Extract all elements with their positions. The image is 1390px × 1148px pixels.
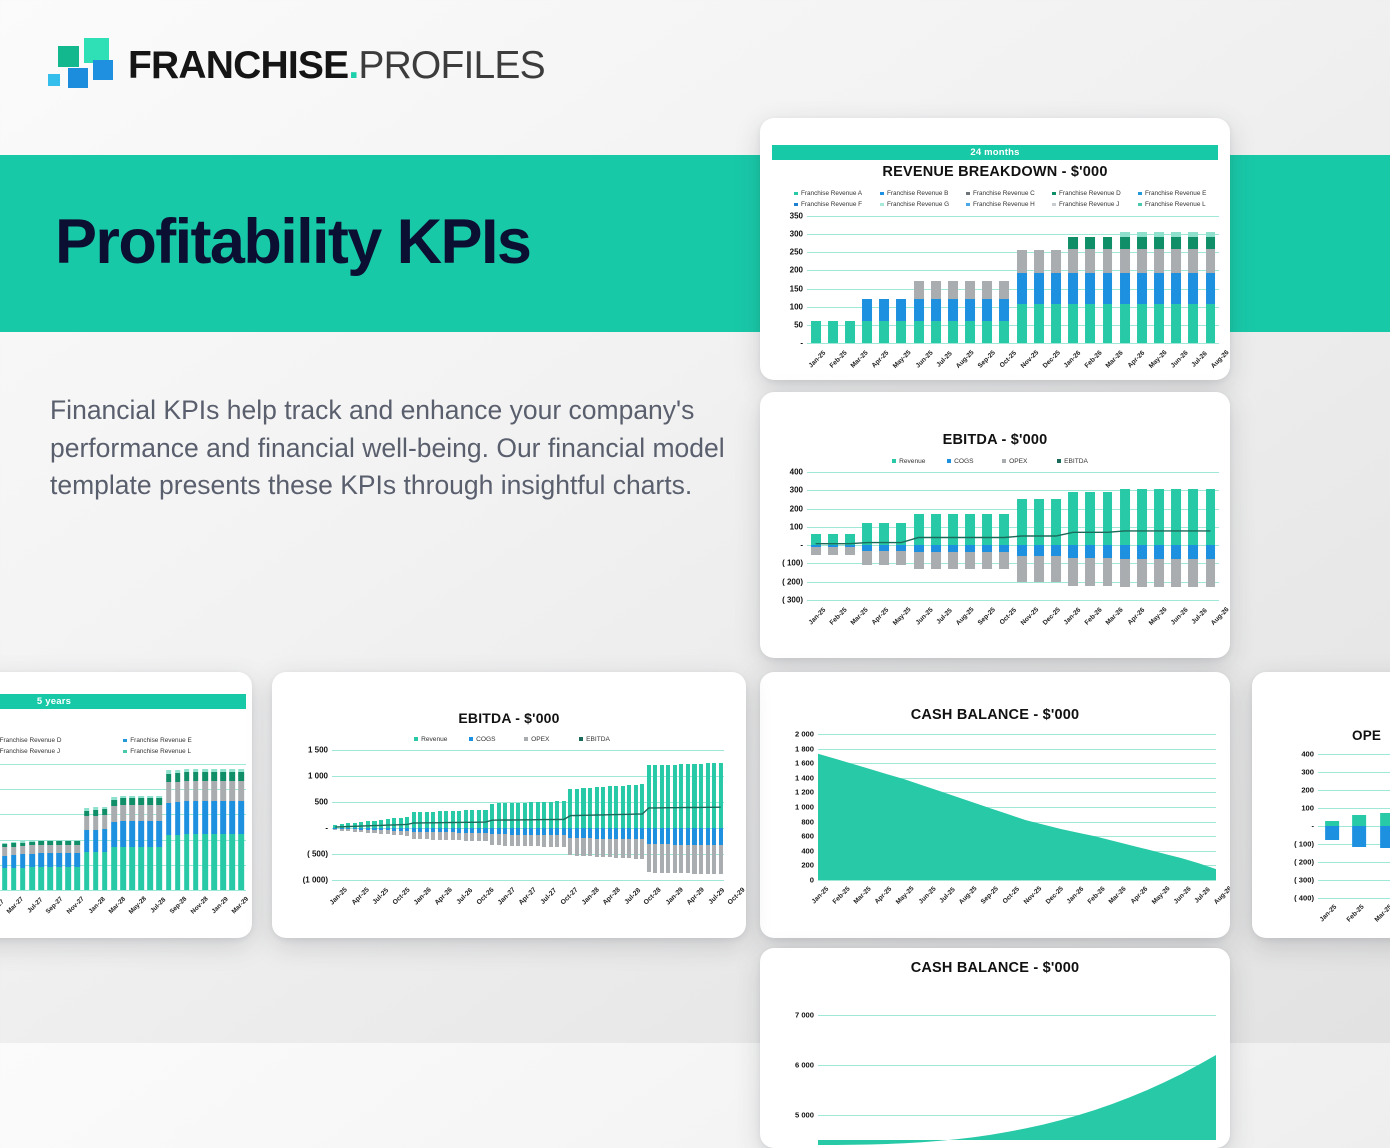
bar-column	[1065, 216, 1082, 343]
bar-column	[27, 764, 36, 890]
legend-item: Revenue	[890, 456, 945, 466]
card-ebitda-5y[interactable]: EBITDA - $'000RevenueCOGSOPEXEBITDA1 500…	[272, 672, 746, 938]
legend-label: Franchise Revenue A	[801, 190, 862, 197]
x-axis-tick-label: Jun-26	[1169, 350, 1189, 370]
legend-item: Franchise Revenue L	[1136, 199, 1222, 210]
bar-column	[46, 764, 55, 890]
x-axis-tick-label: Jan-25	[1318, 904, 1338, 924]
grid-line	[818, 880, 1216, 881]
bar-column	[893, 216, 910, 343]
bar-segment	[38, 853, 44, 867]
bar-segment	[982, 281, 992, 299]
bar-segment	[166, 782, 172, 802]
legend-item: Franchise Revenue A	[792, 188, 878, 199]
bar-column	[137, 764, 146, 890]
card-ebitda-24m[interactable]: EBITDA - $'000RevenueCOGSOPEXEBITDA40030…	[760, 392, 1230, 658]
x-axis-tick-label: Aug-25	[958, 885, 979, 906]
bar-segment	[1206, 237, 1216, 250]
bar-segment	[220, 781, 226, 802]
bar-segment	[166, 835, 172, 890]
x-axis-labels: Jan-25Apr-25Jul-25Oct-25Jan-26Apr-26Jul-…	[328, 885, 728, 903]
bar-segment	[193, 772, 199, 780]
x-axis-tick-label: Aug-26	[1210, 606, 1230, 627]
legend-swatch	[794, 203, 798, 207]
x-axis-tick: Oct-25	[391, 885, 412, 903]
x-axis-tick: Apr-25	[870, 348, 891, 366]
x-axis-tick-label: Jun-26	[1172, 886, 1192, 906]
bar-segment	[1171, 232, 1181, 236]
bar-segment	[211, 769, 217, 773]
legend-item: COGS	[467, 734, 522, 744]
legend-label: OPEX	[1009, 458, 1027, 465]
bar-segment	[239, 801, 245, 834]
plot-area: 1 5001 000500-( 500)(1 000)	[332, 750, 724, 880]
card-cash-balance-5y[interactable]: CASH BALANCE - $'0007 0006 0005 000	[760, 948, 1230, 1148]
bar-segment	[193, 781, 199, 802]
bar-column	[1373, 754, 1390, 898]
bar-segment	[111, 800, 117, 807]
chart-title: EBITDA - $'000	[772, 432, 1218, 448]
x-axis-tick: Dec-25	[1044, 884, 1066, 902]
bar-segment	[1206, 304, 1216, 343]
x-axis-tick: Feb-25	[831, 884, 852, 902]
bar-segment	[965, 281, 975, 299]
legend-item: Franchise Revenue C	[964, 188, 1050, 199]
legend-swatch	[966, 203, 970, 207]
x-axis-tick: May-25	[894, 884, 916, 902]
x-axis-tick: Oct-25	[998, 605, 1019, 623]
x-axis-tick: Jan-25	[1314, 902, 1342, 920]
x-axis-tick-label: Feb-25	[829, 350, 849, 370]
bar-segment	[1380, 826, 1390, 848]
legend-label: Franchise Revenue B	[887, 190, 948, 197]
x-axis-labels: Jan-25Feb-25Mar-25Apr-25May-25Jun-25Jul-…	[1314, 902, 1390, 920]
bar-segment	[1171, 237, 1181, 250]
bar-segment	[102, 807, 108, 810]
bar-segment	[2, 844, 8, 847]
y-axis-tick-label: ( 200)	[782, 577, 803, 586]
bar-segment	[982, 299, 992, 320]
bar-column	[173, 764, 182, 890]
x-axis-tick: Jan-28	[580, 885, 602, 903]
x-axis-tick-label: Nov-25	[1019, 349, 1040, 370]
bar-segment	[1017, 304, 1027, 343]
bar-segment	[29, 845, 35, 853]
bar-segment	[1103, 237, 1113, 250]
x-axis-tick: Apr-26	[1126, 605, 1147, 623]
x-axis-tick-label: Jul-26	[1193, 886, 1211, 904]
bar-segment	[75, 841, 81, 845]
x-axis-tick: Aug-25	[954, 605, 976, 623]
bar-segment	[202, 801, 208, 834]
x-axis-tick-label: Apr-25	[350, 886, 370, 906]
bar-segment	[47, 841, 53, 845]
x-axis-tick: Jul-28	[149, 894, 167, 912]
bar-segment	[147, 821, 153, 847]
x-axis-tick: Dec-25	[1041, 348, 1063, 366]
x-axis-tick: Nov-27	[65, 894, 86, 912]
bar-segment	[38, 840, 44, 842]
y-axis-tick-label: -	[1311, 822, 1314, 831]
bar-segment	[211, 801, 217, 834]
x-axis-tick-label: May-29	[251, 895, 252, 915]
x-axis-tick-label: Feb-26	[1087, 886, 1107, 906]
bar-segment	[129, 821, 135, 847]
x-axis-tick: Oct-25	[1001, 884, 1022, 902]
x-axis-tick: Feb-25	[828, 348, 849, 366]
x-axis-tick: Oct-28	[642, 885, 663, 903]
legend-item: EBITDA	[577, 734, 632, 744]
bar-segment	[75, 840, 81, 842]
x-axis-tick-label: Oct-28	[643, 887, 663, 907]
legend-swatch	[794, 192, 798, 196]
bar-segment	[1325, 826, 1339, 840]
bar-column	[100, 764, 109, 890]
x-axis-tick: Jul-25	[935, 605, 954, 623]
bar-segment	[11, 868, 17, 890]
x-axis-tick: Mar-28	[107, 894, 128, 912]
bar-segment	[193, 801, 199, 834]
x-axis-tick: Jan-26	[412, 885, 434, 903]
bar-segment	[220, 769, 226, 773]
bar-column	[36, 764, 45, 890]
bar-segment	[202, 769, 208, 773]
x-axis-tick: Apr-25	[870, 605, 891, 623]
bar-segment	[1206, 273, 1216, 305]
bar-segment	[120, 821, 126, 847]
y-axis-tick-label: 400	[790, 468, 803, 477]
bar-segment	[1034, 273, 1044, 305]
bar-segment	[138, 821, 144, 847]
chart-ribbon-badge: 24 months	[772, 145, 1218, 160]
x-axis-tick: Jan-25	[807, 348, 828, 366]
bar-segment	[1380, 813, 1390, 826]
x-axis-tick-label: Sep-28	[168, 896, 188, 916]
x-axis-tick-label: Sep-25	[977, 349, 997, 369]
x-axis-tick-label: May-26	[1147, 349, 1168, 370]
x-axis-tick: Feb-25	[828, 605, 849, 623]
x-axis-tick: Aug-26	[1209, 348, 1230, 366]
bar-segment	[220, 834, 226, 890]
x-axis-tick: Dec-25	[1041, 605, 1063, 623]
x-axis-tick-label: Jun-25	[914, 607, 934, 627]
bar-segment	[1017, 250, 1027, 272]
bar-column	[55, 764, 64, 890]
chart-ribbon-badge: 5 years	[0, 694, 246, 709]
x-axis-tick: Oct-27	[559, 885, 580, 903]
bar-column	[210, 764, 219, 890]
bar-column	[146, 764, 155, 890]
bar-segment	[1051, 304, 1061, 343]
bar-segment	[1137, 304, 1147, 343]
legend-item: Franchise Revenue D	[0, 735, 121, 746]
bar-segment	[1137, 273, 1147, 305]
y-axis-tick-label: 250	[790, 248, 803, 257]
plot-area: -50100150200250300350	[807, 216, 1219, 343]
legend-item: Franchise Revenue L	[121, 746, 252, 757]
bar-segment	[965, 321, 975, 343]
x-axis-tick-label: Dec-25	[1041, 606, 1061, 626]
x-axis-tick: Jun-26	[1169, 605, 1190, 623]
bar-segment	[138, 796, 144, 799]
x-axis-tick-label: Sep-27	[45, 896, 65, 916]
x-axis-tick-label: Oct-25	[999, 350, 1018, 369]
y-axis-tick-label: 200	[801, 861, 814, 870]
legend-label: Franchise Revenue D	[1059, 190, 1121, 197]
x-axis-tick-label: Jan-28	[87, 896, 106, 915]
legend-swatch	[1057, 459, 1061, 463]
bar-segment	[1154, 273, 1164, 305]
x-axis-tick: Jan-25	[807, 605, 828, 623]
legend-swatch	[524, 737, 528, 741]
x-axis-tick-label: Oct-29	[727, 887, 746, 907]
bar-segment	[157, 796, 163, 799]
bar-column	[1346, 754, 1374, 898]
x-axis-tick: Apr-29	[685, 885, 707, 903]
bar-segment	[56, 867, 62, 890]
x-axis-tick: Jul-25	[371, 885, 391, 903]
x-axis-tick: Jul-26	[1193, 884, 1212, 902]
bar-column	[944, 216, 961, 343]
y-axis-tick-label: -	[800, 339, 803, 348]
bar-column	[1030, 216, 1047, 343]
x-axis-tick-label: Jul-29	[707, 887, 726, 906]
x-axis-tick-label: Mar-29	[231, 896, 251, 916]
x-axis-tick-label: Mar-25	[1374, 904, 1390, 924]
bar-segment	[65, 845, 71, 854]
legend-label: EBITDA	[1064, 458, 1088, 465]
card-opex-partial[interactable]: OPE400300200100-( 100)( 200)( 300)( 400)…	[1252, 672, 1390, 938]
x-axis-tick: Jan-29	[210, 894, 230, 912]
x-axis-tick: Feb-26	[1083, 605, 1104, 623]
y-axis-tick-label: ( 100)	[1294, 840, 1314, 849]
bars-group	[807, 216, 1219, 343]
bar-segment	[1120, 232, 1130, 236]
x-axis-tick: Feb-26	[1086, 884, 1107, 902]
legend-item: OPEX	[1000, 456, 1055, 466]
plot-area: 400300200100-( 100)( 200)( 300)( 400)	[1318, 754, 1390, 898]
bar-column	[155, 764, 164, 890]
x-axis-tick-label: Jul-25	[935, 607, 953, 625]
x-axis-tick: Jul-27	[539, 885, 559, 903]
x-axis-tick: May-29	[251, 894, 252, 912]
bar-segment	[120, 798, 126, 805]
bar-segment	[20, 868, 26, 890]
bar-segment	[914, 281, 924, 299]
y-axis-tick-label: -	[800, 541, 803, 550]
card-revenue-breakdown-24m[interactable]: 24 monthsREVENUE BREAKDOWN - $'000Franch…	[760, 118, 1230, 380]
legend-item: Franchise Revenue E	[1136, 188, 1222, 199]
plot-area: 7 0006 0005 000	[818, 990, 1216, 1140]
bar-segment	[184, 801, 190, 834]
plot-area: 2 0001 8001 6001 4001 2001 0008006004002…	[818, 734, 1216, 880]
x-axis-tick-label: Feb-26	[1084, 350, 1104, 370]
y-axis-tick-label: 50	[794, 320, 803, 329]
y-axis-tick-label: 150	[790, 284, 803, 293]
bar-column	[962, 216, 979, 343]
x-axis-tick: Jan-26	[1065, 884, 1086, 902]
bar-segment	[211, 772, 217, 780]
x-axis-tick-label: Jan-25	[808, 607, 828, 627]
bar-segment	[1051, 250, 1061, 272]
x-axis-tick: Apr-28	[601, 885, 623, 903]
x-axis-tick-label: Apr-27	[518, 886, 538, 906]
x-axis-tick-label: Jul-25	[935, 350, 953, 368]
legend-swatch	[947, 459, 951, 463]
x-axis-tick: Nov-25	[1019, 348, 1041, 366]
x-axis-tick-label: Jun-25	[914, 350, 934, 370]
legend-item: Franchise Revenue J	[1050, 199, 1136, 210]
bar-segment	[193, 834, 199, 890]
bar-segment	[1085, 273, 1095, 305]
bar-segment	[1120, 273, 1130, 305]
bar-segment	[965, 299, 975, 320]
bar-segment	[157, 798, 163, 805]
y-axis-tick-label: 2 000	[795, 730, 814, 739]
legend-swatch	[123, 739, 127, 743]
x-axis-tick: Oct-26	[475, 885, 496, 903]
bar-column	[237, 764, 246, 890]
bar-segment	[931, 321, 941, 343]
bar-segment	[2, 843, 8, 844]
chart-legend: RevenueCOGSOPEXEBITDA	[890, 456, 1110, 466]
bar-segment	[175, 782, 181, 802]
x-axis-tick-label: Sep-25	[980, 885, 1000, 905]
x-axis-tick-label: Jan-25	[329, 886, 349, 906]
y-axis-tick-label: -	[325, 824, 328, 833]
bar-column	[1099, 216, 1116, 343]
card-revenue-breakdown-5y[interactable]: 5 yearsREAKDOWN - $'000Franchise Revenue…	[0, 672, 252, 938]
bar-column	[1185, 216, 1202, 343]
y-axis-tick-label: 500	[315, 798, 328, 807]
x-axis-tick: Jan-25	[328, 885, 350, 903]
x-axis-tick-label: May-28	[128, 895, 148, 915]
bar-segment	[1171, 249, 1181, 272]
x-axis-tick-label: Dec-25	[1041, 349, 1061, 369]
y-axis-tick-label: ( 400)	[1294, 894, 1314, 903]
bar-segment	[93, 852, 99, 890]
bar-segment	[65, 841, 71, 845]
y-axis-tick-label: 300	[1301, 768, 1314, 777]
bar-segment	[202, 781, 208, 802]
legend-label: Revenue	[899, 458, 925, 465]
card-cash-balance-24m[interactable]: CASH BALANCE - $'0002 0001 8001 6001 400…	[760, 672, 1230, 938]
bar-column	[1116, 216, 1133, 343]
x-axis-tick: Jul-25	[935, 348, 954, 366]
bar-segment	[202, 772, 208, 780]
bar-segment	[175, 802, 181, 835]
legend-label: Franchise Revenue J	[1059, 201, 1119, 208]
bar-segment	[229, 769, 235, 773]
x-axis-tick: Apr-26	[1129, 884, 1150, 902]
bar-column	[807, 216, 824, 343]
x-axis-tick: Aug-26	[1209, 605, 1230, 623]
bar-column	[910, 216, 927, 343]
y-axis-tick-label: (1 000)	[303, 876, 328, 885]
x-axis-tick-label: Mar-26	[1105, 607, 1125, 627]
chart-title: CASH BALANCE - $'000	[772, 707, 1218, 723]
bar-segment	[138, 798, 144, 805]
x-axis-tick: Jul-25	[938, 884, 957, 902]
x-axis-tick-label: Jan-28	[580, 886, 600, 906]
x-axis-tick: Nov-28	[189, 894, 210, 912]
legend-item: Franchise Revenue B	[878, 188, 964, 199]
bar-column	[82, 764, 91, 890]
x-axis-tick-label: Jul-26	[1190, 607, 1208, 625]
bar-segment	[931, 281, 941, 299]
legend-label: Franchise Revenue G	[887, 201, 949, 208]
bar-column	[1150, 216, 1167, 343]
bar-segment	[175, 770, 181, 774]
legend-item: COGS	[945, 456, 1000, 466]
y-axis-tick-label: 800	[801, 817, 814, 826]
bar-column	[1013, 216, 1030, 343]
legend-item: Franchise Revenue D	[1050, 188, 1136, 199]
chart-legend: Franchise Revenue CFranchise Revenue DFr…	[0, 735, 252, 757]
bar-segment	[1188, 237, 1198, 250]
x-axis-tick: May-28	[127, 894, 149, 912]
bar-segment	[1120, 304, 1130, 343]
x-axis-tick: Aug-26	[1212, 884, 1230, 902]
grid-line	[1318, 898, 1390, 899]
legend-label: Franchise Revenue D	[0, 737, 61, 744]
legend-swatch	[1052, 203, 1056, 207]
bar-column	[228, 764, 237, 890]
bar-segment	[75, 867, 81, 890]
bar-segment	[120, 796, 126, 799]
bar-segment	[129, 798, 135, 805]
bar-segment	[202, 834, 208, 890]
bar-column	[1202, 216, 1219, 343]
x-axis-tick-label: Jun-26	[1169, 607, 1189, 627]
legend-label: Franchise Revenue E	[130, 737, 191, 744]
x-axis-tick-label: Apr-25	[871, 350, 891, 370]
bar-segment	[47, 840, 53, 842]
x-axis-tick-label: May-25	[892, 349, 913, 370]
bar-segment	[84, 816, 90, 830]
bar-segment	[1051, 273, 1061, 305]
x-axis-tick-label: Apr-25	[874, 886, 894, 906]
legend-label: OPEX	[531, 736, 549, 743]
x-axis-tick: Apr-25	[873, 884, 894, 902]
bar-segment	[20, 841, 26, 842]
legend-swatch	[966, 192, 970, 196]
y-axis-tick-label: 1 000	[308, 772, 328, 781]
x-axis-tick-label: Oct-26	[475, 887, 495, 907]
x-axis-tick: Jan-28	[87, 894, 107, 912]
trend-line	[332, 750, 724, 880]
x-axis-tick-label: Feb-25	[1346, 904, 1366, 924]
x-axis-tick: Nov-25	[1022, 884, 1044, 902]
bar-segment	[811, 321, 821, 343]
x-axis-tick: Apr-25	[350, 885, 372, 903]
x-axis-tick-label: Mar-25	[850, 350, 870, 370]
bar-segment	[914, 299, 924, 320]
legend-swatch	[1052, 192, 1056, 196]
y-axis-tick-label: 1 500	[308, 746, 328, 755]
x-axis-tick-label: Apr-25	[871, 607, 891, 627]
bar-segment	[29, 840, 35, 841]
bar-segment	[29, 854, 35, 867]
bar-segment	[1120, 237, 1130, 250]
x-axis-tick: Jul-26	[1190, 605, 1209, 623]
bar-segment	[65, 853, 71, 867]
x-axis-tick-label: Apr-26	[434, 886, 454, 906]
x-axis-tick: Mar-27	[5, 894, 26, 912]
bar-segment	[1068, 249, 1078, 272]
x-axis-tick-label: Jul-27	[26, 896, 44, 914]
bar-segment	[1188, 249, 1198, 272]
